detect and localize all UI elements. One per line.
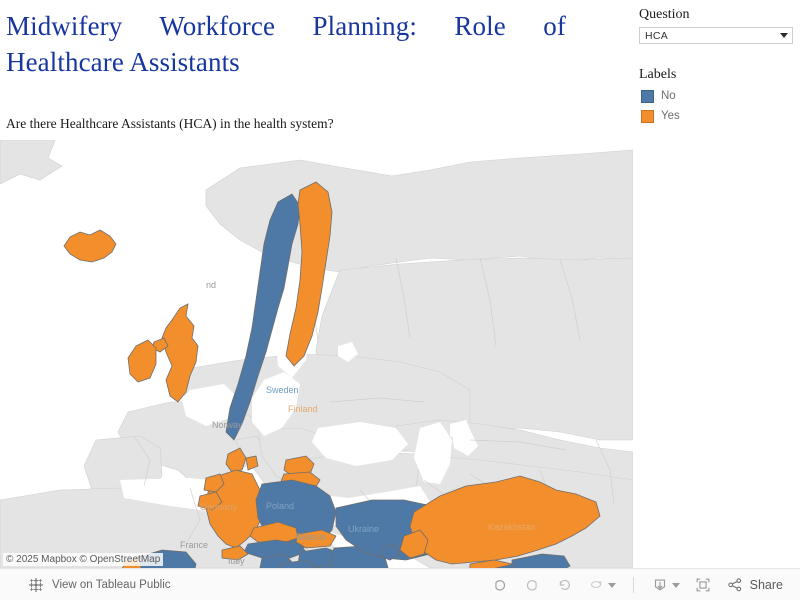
toolbar-left: View on Tableau Public — [0, 577, 171, 593]
share-label: Share — [750, 578, 783, 592]
map-canvas[interactable]: nd Norway Belarus France Italy Algeria L… — [0, 140, 633, 568]
toolbar-right: Share — [484, 572, 800, 598]
fullscreen-button[interactable] — [687, 572, 719, 598]
undo-icon — [491, 576, 509, 594]
question-filter: Question HCA — [639, 7, 795, 44]
legend-swatch-yes — [641, 110, 654, 123]
map-label-poland: Poland — [266, 501, 294, 511]
revert-button[interactable] — [548, 572, 580, 598]
share-icon — [726, 576, 744, 594]
map-label-italy: Italy — [228, 556, 245, 566]
fullscreen-icon — [694, 576, 712, 594]
map-attribution: © 2025 Mapbox © OpenStreetMap — [3, 553, 163, 566]
view-on-tableau-public-link[interactable]: View on Tableau Public — [52, 579, 171, 591]
tableau-dashboard: Midwifery Workforce Planning: Role of He… — [0, 0, 800, 600]
map-label-norway: Norway — [212, 420, 243, 430]
revert-icon — [555, 576, 573, 594]
chevron-down-icon[interactable] — [672, 583, 680, 588]
chevron-down-icon — [780, 33, 788, 38]
map-label-germany: Germany — [200, 502, 238, 512]
question-heading: Question — [639, 7, 795, 23]
map-label-kazakhstan: Kazakhstan — [488, 522, 535, 532]
share-button[interactable]: Share — [719, 572, 790, 598]
viz-area: Midwifery Workforce Planning: Role of He… — [0, 0, 633, 568]
map-label-france: France — [180, 540, 208, 550]
map-label-sweden: Sweden — [266, 385, 299, 395]
legend-label-yes: Yes — [661, 110, 680, 122]
legend-swatch-no — [641, 90, 654, 103]
chevron-down-icon[interactable] — [608, 583, 616, 588]
map-label-greenland: nd — [206, 280, 216, 290]
legend-item-no[interactable]: No — [641, 86, 795, 106]
bottom-toolbar: View on Tableau Public — [0, 568, 800, 600]
choropleth-map[interactable]: nd Norway Belarus France Italy Algeria L… — [0, 140, 633, 568]
page-title: Midwifery Workforce Planning: Role of He… — [6, 8, 566, 80]
redo-icon — [523, 576, 541, 594]
download-icon — [651, 576, 669, 594]
legend-item-yes[interactable]: Yes — [641, 106, 795, 126]
filters-panel: Question HCA Labels No Yes — [633, 0, 800, 568]
labels-heading: Labels — [639, 67, 795, 83]
refresh-icon — [587, 576, 605, 594]
redo-button[interactable] — [516, 572, 548, 598]
dashboard-subtitle: Are there Healthcare Assistants (HCA) in… — [6, 115, 596, 133]
refresh-button[interactable] — [580, 572, 623, 598]
question-select-value: HCA — [645, 30, 668, 42]
question-select[interactable]: HCA — [639, 27, 793, 44]
legend-list: No Yes — [641, 86, 795, 126]
legend-label-no: No — [661, 90, 676, 102]
undo-button[interactable] — [484, 572, 516, 598]
map-label-finland: Finland — [288, 404, 318, 414]
labels-legend: Labels No Yes — [639, 67, 795, 126]
tableau-logo-icon — [28, 577, 44, 593]
map-label-ukraine: Ukraine — [348, 524, 379, 534]
download-button[interactable] — [644, 572, 687, 598]
toolbar-divider — [633, 577, 634, 593]
map-label-belarus: Belarus — [296, 532, 327, 542]
